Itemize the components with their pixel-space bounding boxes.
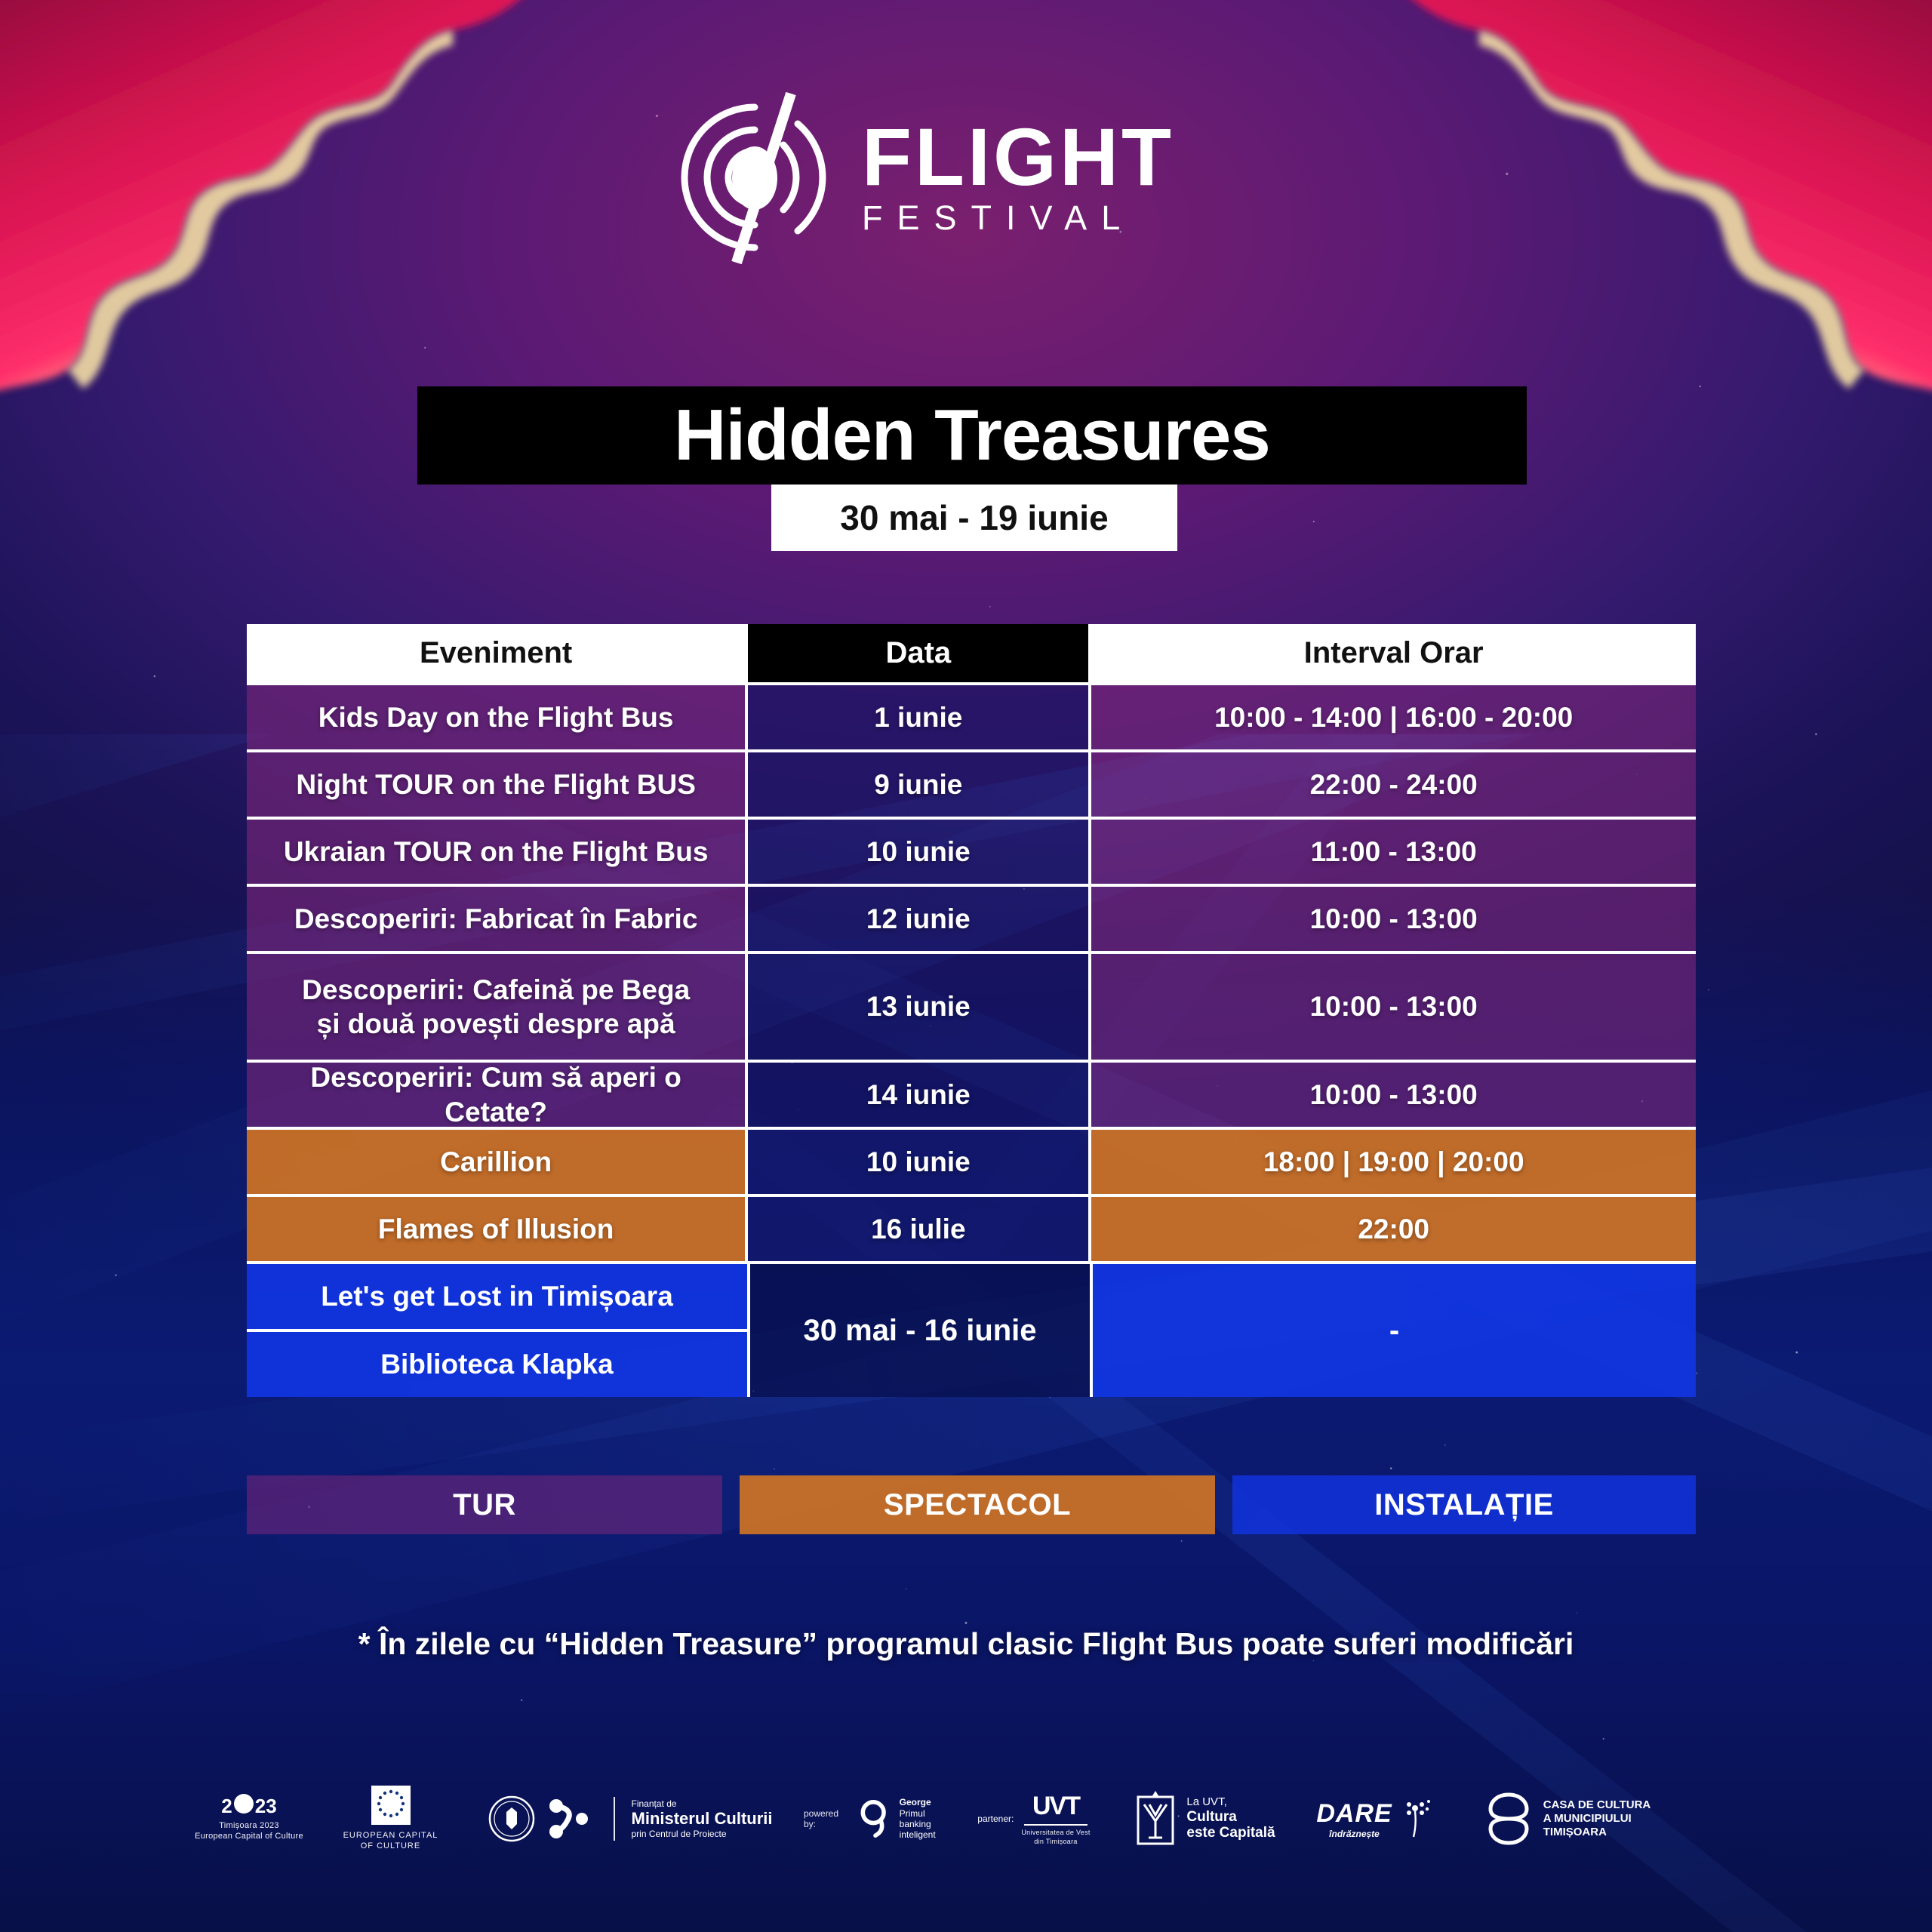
table-row[interactable]: Ukraian TOUR on the Flight Bus 10 iunie … — [247, 820, 1696, 884]
uvt-cultura-line3: este Capitală — [1186, 1825, 1275, 1841]
category-legend: TUR SPECTACOL INSTALAȚIE — [247, 1475, 1696, 1534]
cell-interval: - — [1093, 1264, 1696, 1397]
george-logo-icon — [857, 1795, 891, 1842]
cell-date: 10 iunie — [854, 835, 983, 869]
ecoc-line2: OF CULTURE — [343, 1841, 438, 1852]
ministry-sub: prin Centrul de Proiecte — [632, 1829, 773, 1839]
ministry-name: Ministerul Culturii — [632, 1809, 773, 1828]
table-row-merged[interactable]: Let's get Lost in Timișoara Biblioteca K… — [247, 1264, 1696, 1397]
cell-date: 13 iunie — [854, 989, 983, 1023]
cell-interval: 10:00 - 13:00 — [1298, 902, 1490, 936]
tm2023-line2: European Capital of Culture — [195, 1832, 303, 1842]
date-range-badge: 30 mai - 19 iunie — [771, 485, 1177, 551]
sponsor-casa-de-cultura: CASA DE CULTURA A MUNICIPIULUI TIMIȘOARA — [1457, 1790, 1675, 1847]
nebula-top-right — [1389, 0, 1932, 400]
legend-item-instalatie[interactable]: INSTALAȚIE — [1232, 1475, 1696, 1534]
cell-date: 12 iunie — [854, 902, 983, 936]
george-name: George — [900, 1797, 955, 1807]
sponsor-uvt-cultura: La UVT, Cultura este Capitală — [1113, 1789, 1294, 1848]
cell-interval: 10:00 - 14:00 | 16:00 - 20:00 — [1202, 700, 1585, 734]
table-header-row: Eveniment Data Interval Orar — [247, 624, 1696, 682]
legend-item-spectacol[interactable]: SPECTACOL — [740, 1475, 1215, 1534]
casa-line2: A MUNICIPIULUI — [1543, 1812, 1651, 1826]
brand-logo: FLIGHT FESTIVAL — [664, 91, 1268, 264]
tm2023-line1: Timișoara 2023 — [195, 1821, 303, 1832]
centrul-de-proiecte-icon — [543, 1795, 597, 1842]
ecoc-line1: EUROPEAN CAPITAL — [343, 1831, 438, 1841]
legend-item-tur[interactable]: TUR — [247, 1475, 722, 1534]
cell-event: Night TOUR on the Flight BUS — [284, 768, 708, 801]
cell-event: Descoperiri: Cafeină pe Bega și două pov… — [290, 973, 702, 1041]
cell-interval: 10:00 - 13:00 — [1298, 989, 1490, 1023]
cell-interval: 22:00 — [1346, 1212, 1441, 1246]
sponsor-timisoara-2023: 2 23 Timișoara 2023 European Capital of … — [174, 1796, 325, 1842]
george-line2: inteligent — [900, 1829, 955, 1840]
dare-sub: îndrăznește — [1316, 1829, 1392, 1839]
column-header-eveniment: Eveniment — [247, 624, 745, 682]
casa-de-cultura-icon — [1481, 1790, 1536, 1847]
footnote: * În zilele cu “Hidden Treasure” program… — [0, 1626, 1932, 1662]
table-row[interactable]: Descoperiri: Cafeină pe Bega și două pov… — [247, 954, 1696, 1060]
dare-flower-icon — [1400, 1798, 1435, 1840]
dare-name: DARE — [1316, 1799, 1392, 1829]
cell-event: Flames of Illusion — [366, 1212, 626, 1246]
sponsor-george-bank: powered by: George Primul banking inteli… — [804, 1795, 955, 1842]
cell-event: Biblioteca Klapka — [247, 1332, 747, 1397]
ministry-kicker: Finanțat de — [632, 1798, 773, 1809]
cell-interval: 22:00 - 24:00 — [1298, 768, 1490, 801]
schedule-table: Eveniment Data Interval Orar Kids Day on… — [247, 624, 1696, 1397]
divider — [614, 1797, 615, 1841]
logo-word-flight: FLIGHT — [862, 118, 1174, 196]
table-row[interactable]: Night TOUR on the Flight BUS 9 iunie 22:… — [247, 752, 1696, 817]
tm2023-dot-icon — [234, 1794, 254, 1814]
romania-coat-of-arms-icon — [488, 1795, 535, 1842]
cell-event: Let's get Lost in Timișoara — [247, 1264, 747, 1329]
uvt-crest-icon — [1132, 1789, 1179, 1848]
sponsor-bar: 2 23 Timișoara 2023 European Capital of … — [174, 1751, 1766, 1887]
column-header-data: Data — [748, 624, 1088, 682]
sponsor-dare: DARE îndrăznește — [1294, 1798, 1457, 1840]
powered-by-label: powered by: — [804, 1808, 849, 1830]
cell-date: 30 mai - 16 iunie — [750, 1264, 1090, 1397]
cell-date: 9 iunie — [862, 768, 974, 801]
eu-stars-icon — [371, 1786, 411, 1825]
george-line1: Primul banking — [900, 1808, 955, 1830]
cell-date: 14 iunie — [854, 1078, 983, 1112]
uvt-cultura-line2: Cultura — [1186, 1809, 1275, 1825]
table-row[interactable]: Carillion 10 iunie 18:00 | 19:00 | 20:00 — [247, 1130, 1696, 1194]
cell-interval: 18:00 | 19:00 | 20:00 — [1251, 1145, 1537, 1179]
casa-line3: TIMIȘOARA — [1543, 1826, 1651, 1839]
partner-label: partener: — [977, 1814, 1014, 1824]
sponsor-uvt: partener: UVT Universitatea de Vest din … — [955, 1792, 1113, 1846]
cell-event: Descoperiri: Fabricat în Fabric — [282, 902, 710, 936]
cell-date: 1 iunie — [862, 700, 974, 734]
table-row[interactable]: Descoperiri: Fabricat în Fabric 12 iunie… — [247, 887, 1696, 951]
flight-festival-mark-icon — [664, 91, 845, 264]
table-row[interactable]: Kids Day on the Flight Bus 1 iunie 10:00… — [247, 685, 1696, 749]
uvt-mark: UVT — [1021, 1792, 1090, 1821]
tm2023-digit-2: 2 — [221, 1796, 232, 1817]
tm2023-digits-23: 23 — [255, 1796, 277, 1817]
cell-interval: 11:00 - 13:00 — [1299, 835, 1489, 869]
cell-interval: 10:00 - 13:00 — [1298, 1078, 1490, 1112]
page-title-text: Hidden Treasures — [674, 394, 1270, 477]
page-title: Hidden Treasures — [417, 386, 1527, 485]
cell-date: 16 iulie — [859, 1212, 977, 1246]
sponsor-european-capital-of-culture: EUROPEAN CAPITAL OF CULTURE — [325, 1786, 457, 1852]
nebula-top-left — [0, 0, 543, 400]
poster-canvas: FLIGHT FESTIVAL Hidden Treasures 30 mai … — [0, 0, 1932, 1932]
casa-line1: CASA DE CULTURA — [1543, 1798, 1651, 1812]
date-range-text: 30 mai - 19 iunie — [840, 497, 1108, 538]
column-header-interval: Interval Orar — [1091, 624, 1696, 682]
table-row[interactable]: Descoperiri: Cum să aperi o Cetate? 14 i… — [247, 1063, 1696, 1127]
cell-event: Carillion — [428, 1145, 564, 1179]
cell-event: Ukraian TOUR on the Flight Bus — [272, 835, 721, 869]
cell-date: 10 iunie — [854, 1145, 983, 1179]
cell-event: Kids Day on the Flight Bus — [306, 700, 686, 734]
uvt-cultura-line1: La UVT, — [1186, 1796, 1275, 1809]
sponsor-ministerul-culturii: Finanțat de Ministerul Culturii prin Cen… — [457, 1795, 804, 1842]
logo-word-festival: FESTIVAL — [862, 199, 1174, 237]
uvt-line2: din Timișoara — [1021, 1838, 1090, 1846]
table-row[interactable]: Flames of Illusion 16 iulie 22:00 — [247, 1197, 1696, 1261]
cell-event: Descoperiri: Cum să aperi o Cetate? — [247, 1060, 745, 1128]
uvt-line1: Universitatea de Vest — [1021, 1829, 1090, 1837]
